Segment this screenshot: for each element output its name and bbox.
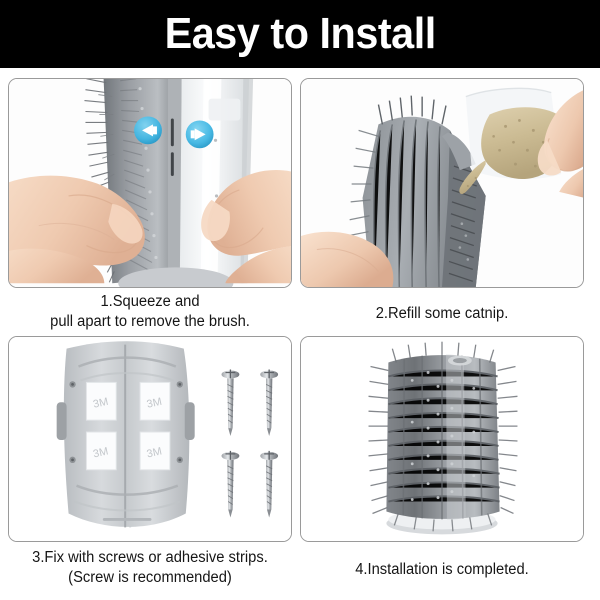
- step-4-caption: 4.Installation is completed.: [307, 542, 577, 580]
- header-banner: Easy to Install: [0, 0, 600, 68]
- step-1-caption: 1.Squeeze and pull apart to remove the b…: [15, 288, 285, 332]
- step-1: 1.Squeeze and pull apart to remove the b…: [8, 78, 300, 336]
- step-2: 2.Refill some catnip.: [300, 78, 592, 336]
- page-title: Easy to Install: [164, 12, 435, 56]
- step-3-photo: 3M 3M 3M 3M: [8, 336, 292, 542]
- step-2-illustration: [301, 79, 583, 287]
- step-3: 3M 3M 3M 3M: [8, 336, 300, 596]
- adhesive-square: 3M: [86, 432, 116, 470]
- adhesive-square: 3M: [140, 382, 170, 420]
- step-4-illustration: [301, 337, 583, 541]
- step-2-caption: 2.Refill some catnip.: [307, 288, 577, 324]
- mounting-base: [57, 341, 195, 527]
- step-2-photo: [300, 78, 584, 288]
- steps-grid: 1.Squeeze and pull apart to remove the b…: [0, 68, 600, 600]
- step-4-photo: [300, 336, 584, 542]
- step-1-photo: [8, 78, 292, 288]
- instruction-infographic: Easy to Install: [0, 0, 600, 600]
- assembled-groomer: [369, 342, 518, 535]
- step-3-caption: 3.Fix with screws or adhesive strips. (S…: [15, 542, 285, 588]
- step-4: 4.Installation is completed.: [300, 336, 592, 596]
- arrow-left-badge-group: [134, 116, 162, 144]
- adhesive-square: 3M: [140, 432, 170, 470]
- step-1-illustration: [9, 79, 291, 287]
- vent-slots: [168, 79, 182, 283]
- adhesive-square: 3M: [86, 382, 116, 420]
- step-3-illustration: 3M 3M 3M 3M: [9, 337, 291, 541]
- arrow-right-badge-group: [186, 120, 214, 148]
